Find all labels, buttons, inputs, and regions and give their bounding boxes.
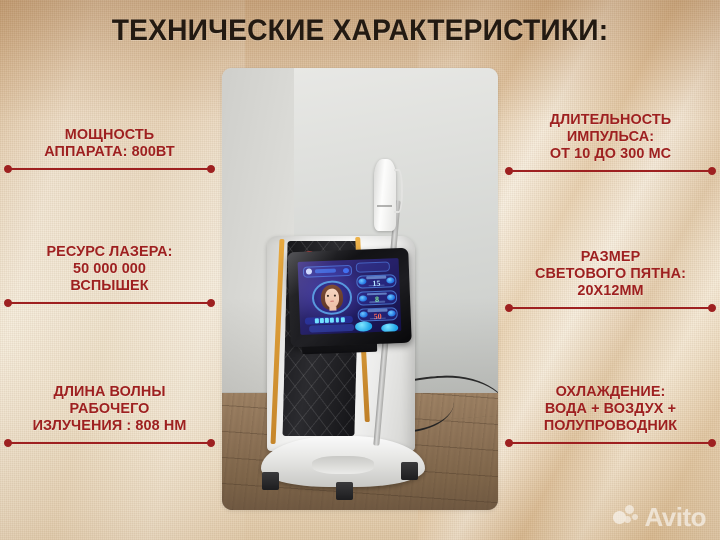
avito-circle: [625, 505, 634, 514]
product-photo: 15 8 50: [222, 68, 498, 510]
feature-line: СВЕТОВОГО ПЯТНА:: [507, 265, 713, 282]
feature-divider: [2, 165, 217, 174]
feature-line: ИМПУЛЬСА:: [507, 128, 713, 145]
feature-divider: [2, 299, 217, 308]
feature-line: РЕСУРС ЛАЗЕРА:: [6, 243, 212, 260]
handpiece-seam: [377, 205, 392, 207]
feature-line: ДЛИТЕЛЬНОСТЬ: [507, 111, 713, 128]
feature-cooling: ОХЛАЖДЕНИЕ: ВОДА + ВОЗДУХ + ПОЛУПРОВОДНИ…: [503, 383, 718, 448]
divider-dot-right: [708, 304, 716, 312]
feature-wavelength-text: ДЛИНА ВОЛНЫ РАБОЧЕГО ИЗЛУЧЕНИЯ : 808 НМ: [6, 383, 212, 434]
feature-divider: [503, 167, 718, 176]
divider-dot-right: [207, 439, 215, 447]
feature-line: ВСПЫШЕК: [6, 277, 212, 294]
divider-dot-right: [207, 165, 215, 173]
feature-cooling-text: ОХЛАЖДЕНИЕ: ВОДА + ВОЗДУХ + ПОЛУПРОВОДНИ…: [507, 383, 713, 434]
feature-pulse-duration-text: ДЛИТЕЛЬНОСТЬ ИМПУЛЬСА: ОТ 10 ДО 300 МС: [507, 111, 713, 162]
divider-bar: [9, 168, 210, 170]
avito-circle: [624, 516, 631, 523]
feature-wavelength: ДЛИНА ВОЛНЫ РАБОЧЕГО ИЗЛУЧЕНИЯ : 808 НМ: [2, 383, 217, 448]
caster-wheel: [336, 482, 353, 500]
feature-laser-resource-text: РЕСУРС ЛАЗЕРА: 50 000 000 ВСПЫШЕК: [6, 243, 212, 294]
feature-divider: [2, 439, 217, 448]
feature-line: РАЗМЕР: [507, 248, 713, 265]
divider-bar: [9, 442, 210, 444]
feature-spot-size-text: РАЗМЕР СВЕТОВОГО ПЯТНА: 20Х12ММ: [507, 248, 713, 299]
handpiece-clip: [394, 169, 403, 213]
feature-divider: [503, 439, 718, 448]
avito-watermark: Avito: [613, 504, 706, 530]
feature-line: ДЛИНА ВОЛНЫ: [6, 383, 212, 400]
machine-base-notch: [312, 456, 374, 474]
feature-laser-resource: РЕСУРС ЛАЗЕРА: 50 000 000 ВСПЫШЕК: [2, 243, 217, 308]
laser-machine: 15 8 50: [261, 236, 432, 492]
divider-bar: [510, 170, 711, 172]
avito-circle: [632, 514, 638, 520]
feature-line: РАБОЧЕГО: [6, 400, 212, 417]
feature-line: 20Х12ММ: [507, 282, 713, 299]
feature-power-text: МОЩНОСТЬ АППАРАТА: 800ВТ: [6, 126, 212, 160]
divider-dot-right: [207, 299, 215, 307]
feature-line: ОХЛАЖДЕНИЕ:: [507, 383, 713, 400]
feature-line: ВОДА + ВОЗДУХ +: [507, 400, 713, 417]
divider-dot-right: [708, 439, 716, 447]
feature-line: ОТ 10 ДО 300 МС: [507, 145, 713, 162]
feature-line: 50 000 000: [6, 260, 212, 277]
feature-line: МОЩНОСТЬ: [6, 126, 212, 143]
page-title: ТЕХНИЧЕСКИЕ ХАРАКТЕРИСТИКИ:: [22, 14, 699, 48]
divider-bar: [9, 302, 210, 304]
caster-wheel: [401, 462, 418, 480]
feature-spot-size: РАЗМЕР СВЕТОВОГО ПЯТНА: 20Х12ММ: [503, 248, 718, 313]
divider-dot-right: [708, 167, 716, 175]
divider-bar: [510, 442, 711, 444]
feature-line: ПОЛУПРОВОДНИК: [507, 417, 713, 434]
feature-line: АППАРАТА: 800ВТ: [6, 143, 212, 160]
feature-pulse-duration: ДЛИТЕЛЬНОСТЬ ИМПУЛЬСА: ОТ 10 ДО 300 МС: [503, 111, 718, 176]
divider-bar: [510, 307, 711, 309]
avito-logo-icon: [613, 505, 639, 529]
monitor-glare: [287, 248, 412, 347]
avito-wordmark: Avito: [644, 504, 706, 530]
feature-divider: [503, 304, 718, 313]
feature-power: МОЩНОСТЬ АППАРАТА: 800ВТ: [2, 126, 217, 174]
caster-wheel: [262, 472, 279, 490]
machine-monitor: 15 8 50: [287, 248, 412, 347]
laser-handpiece[interactable]: [374, 159, 396, 231]
feature-line: ИЗЛУЧЕНИЯ : 808 НМ: [6, 417, 212, 434]
